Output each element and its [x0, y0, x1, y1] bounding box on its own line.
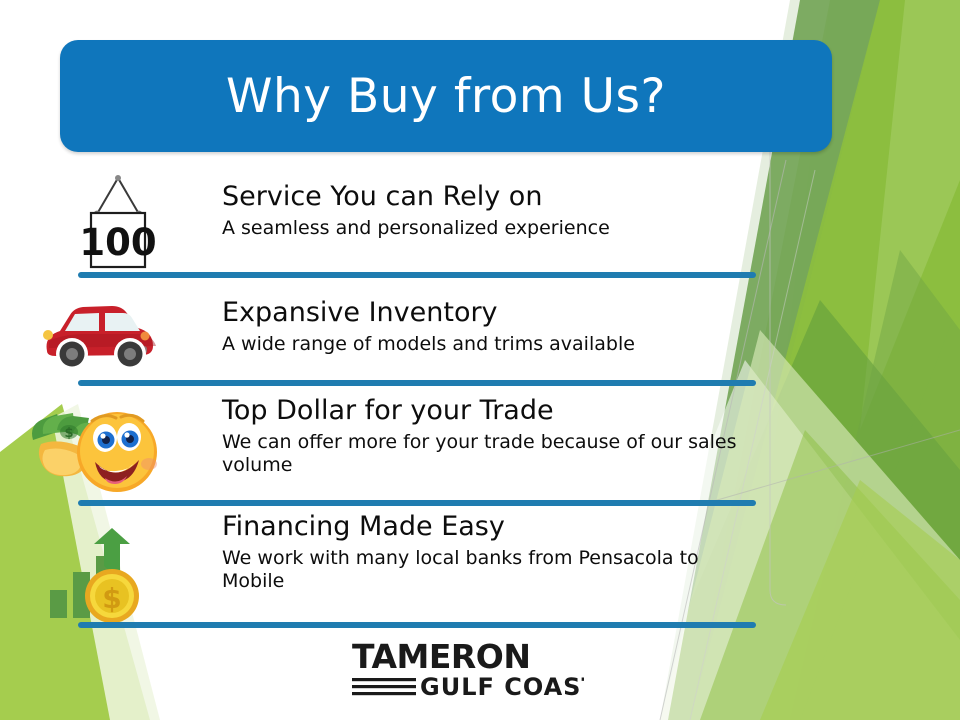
feature-text-block: Top Dollar for your Trade We can offer m… [222, 396, 767, 476]
logo-mark: TAMERON GULF COAST [352, 638, 584, 704]
feature-divider [78, 272, 756, 278]
price-tag-sign-100-icon: 100 [75, 168, 161, 272]
slide-canvas: Why Buy from Us? 100 Service You can Rel… [0, 0, 960, 720]
feature-text-block: Financing Made Easy We work with many lo… [222, 512, 767, 592]
page-title: Why Buy from Us? [226, 73, 666, 120]
svg-text:$: $ [64, 426, 73, 441]
feature-divider [78, 500, 756, 506]
red-car-icon [37, 291, 163, 377]
feature-icon-slot [30, 286, 170, 382]
feature-row: $ Financing Made Easy We work with many … [0, 508, 960, 634]
feature-subtitle: We can offer more for your trade because… [222, 431, 767, 476]
logo-primary-text: TAMERON [352, 638, 530, 676]
feature-icon-slot: $ [22, 402, 162, 502]
feature-subtitle: We work with many local banks from Pensa… [222, 547, 767, 592]
smiley-with-money-icon: $ [27, 404, 157, 500]
feature-icon-slot: 100 [48, 168, 188, 272]
growth-chart-coin-icon: $ [42, 528, 154, 628]
feature-title: Top Dollar for your Trade [222, 396, 767, 426]
badge-number: 100 [79, 221, 156, 264]
logo-secondary-text: GULF COAST [420, 673, 584, 701]
feature-title: Financing Made Easy [222, 512, 767, 542]
feature-row: Expansive Inventory A wide range of mode… [0, 280, 960, 388]
logo-stripes [352, 678, 416, 695]
feature-divider [78, 380, 756, 386]
feature-title: Service You can Rely on [222, 182, 767, 212]
feature-row: 100 Service You can Rely on A seamless a… [0, 160, 960, 280]
coin-dollar-symbol: $ [102, 582, 121, 615]
feature-title: Expansive Inventory [222, 298, 767, 328]
feature-text-block: Expansive Inventory A wide range of mode… [222, 298, 767, 356]
feature-row: $ [0, 388, 960, 508]
tameron-gulf-coast-logo: TAMERON GULF COAST [352, 638, 584, 704]
feature-subtitle: A wide range of models and trims availab… [222, 333, 767, 355]
feature-divider [78, 622, 756, 628]
feature-icon-slot: $ [28, 526, 168, 630]
feature-subtitle: A seamless and personalized experience [222, 217, 767, 239]
slide-title-banner: Why Buy from Us? [60, 40, 832, 152]
feature-text-block: Service You can Rely on A seamless and p… [222, 182, 767, 240]
